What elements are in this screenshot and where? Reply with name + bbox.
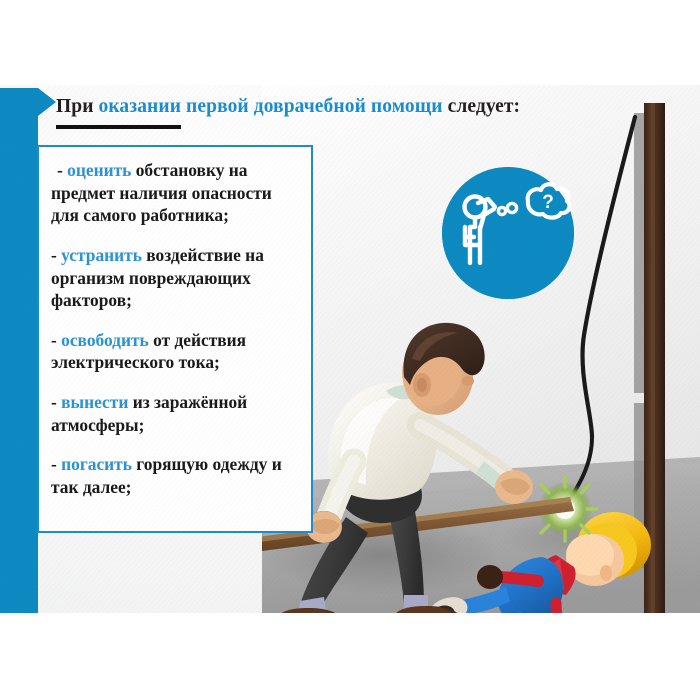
slide-canvas: При оказании первой доврачебной помощи с… — [0, 85, 700, 613]
top-white-margin — [0, 0, 700, 85]
bullet-dash: - — [51, 454, 61, 474]
left-arrow-pointer-icon — [38, 88, 56, 116]
list-item: - освободить от действия электрического … — [51, 329, 301, 374]
bullet-keyword: оценить — [67, 160, 131, 180]
bullet-dash: - — [51, 245, 61, 265]
bullet-keyword: вынести — [61, 392, 128, 412]
list-item: - вынести из заражённой атмосферы; — [51, 391, 301, 436]
list-item: - устранить воздействие на организм повр… — [51, 244, 301, 312]
question-mark-glyph: ? — [542, 192, 554, 213]
bullet-dash: - — [51, 392, 61, 412]
bullet-keyword: устранить — [61, 245, 142, 265]
title-accent: оказании первой доврачебной помощи — [99, 96, 443, 117]
left-accent-bar — [0, 88, 38, 613]
bullet-dash: - — [57, 160, 67, 180]
list-item: - погасить горящую одежду и так далее; — [51, 453, 301, 498]
page-title: При оказании первой доврачебной помощи с… — [56, 96, 520, 118]
thinking-person-question-icon: ? — [442, 167, 574, 299]
bullet-dash: - — [51, 330, 61, 350]
bullet-keyword: освободить — [61, 330, 149, 350]
bullet-keyword: погасить — [61, 454, 132, 474]
title-suffix: следует: — [443, 96, 521, 117]
title-underline-rule — [56, 125, 181, 129]
bottom-white-margin — [0, 613, 700, 700]
title-prefix: При — [56, 96, 99, 117]
bullet-list-box: - оценить обстановку на предмет наличия … — [37, 145, 313, 533]
illustration-first-aid-electric-shock — [262, 85, 700, 613]
list-item: - оценить обстановку на предмет наличия … — [51, 159, 301, 227]
